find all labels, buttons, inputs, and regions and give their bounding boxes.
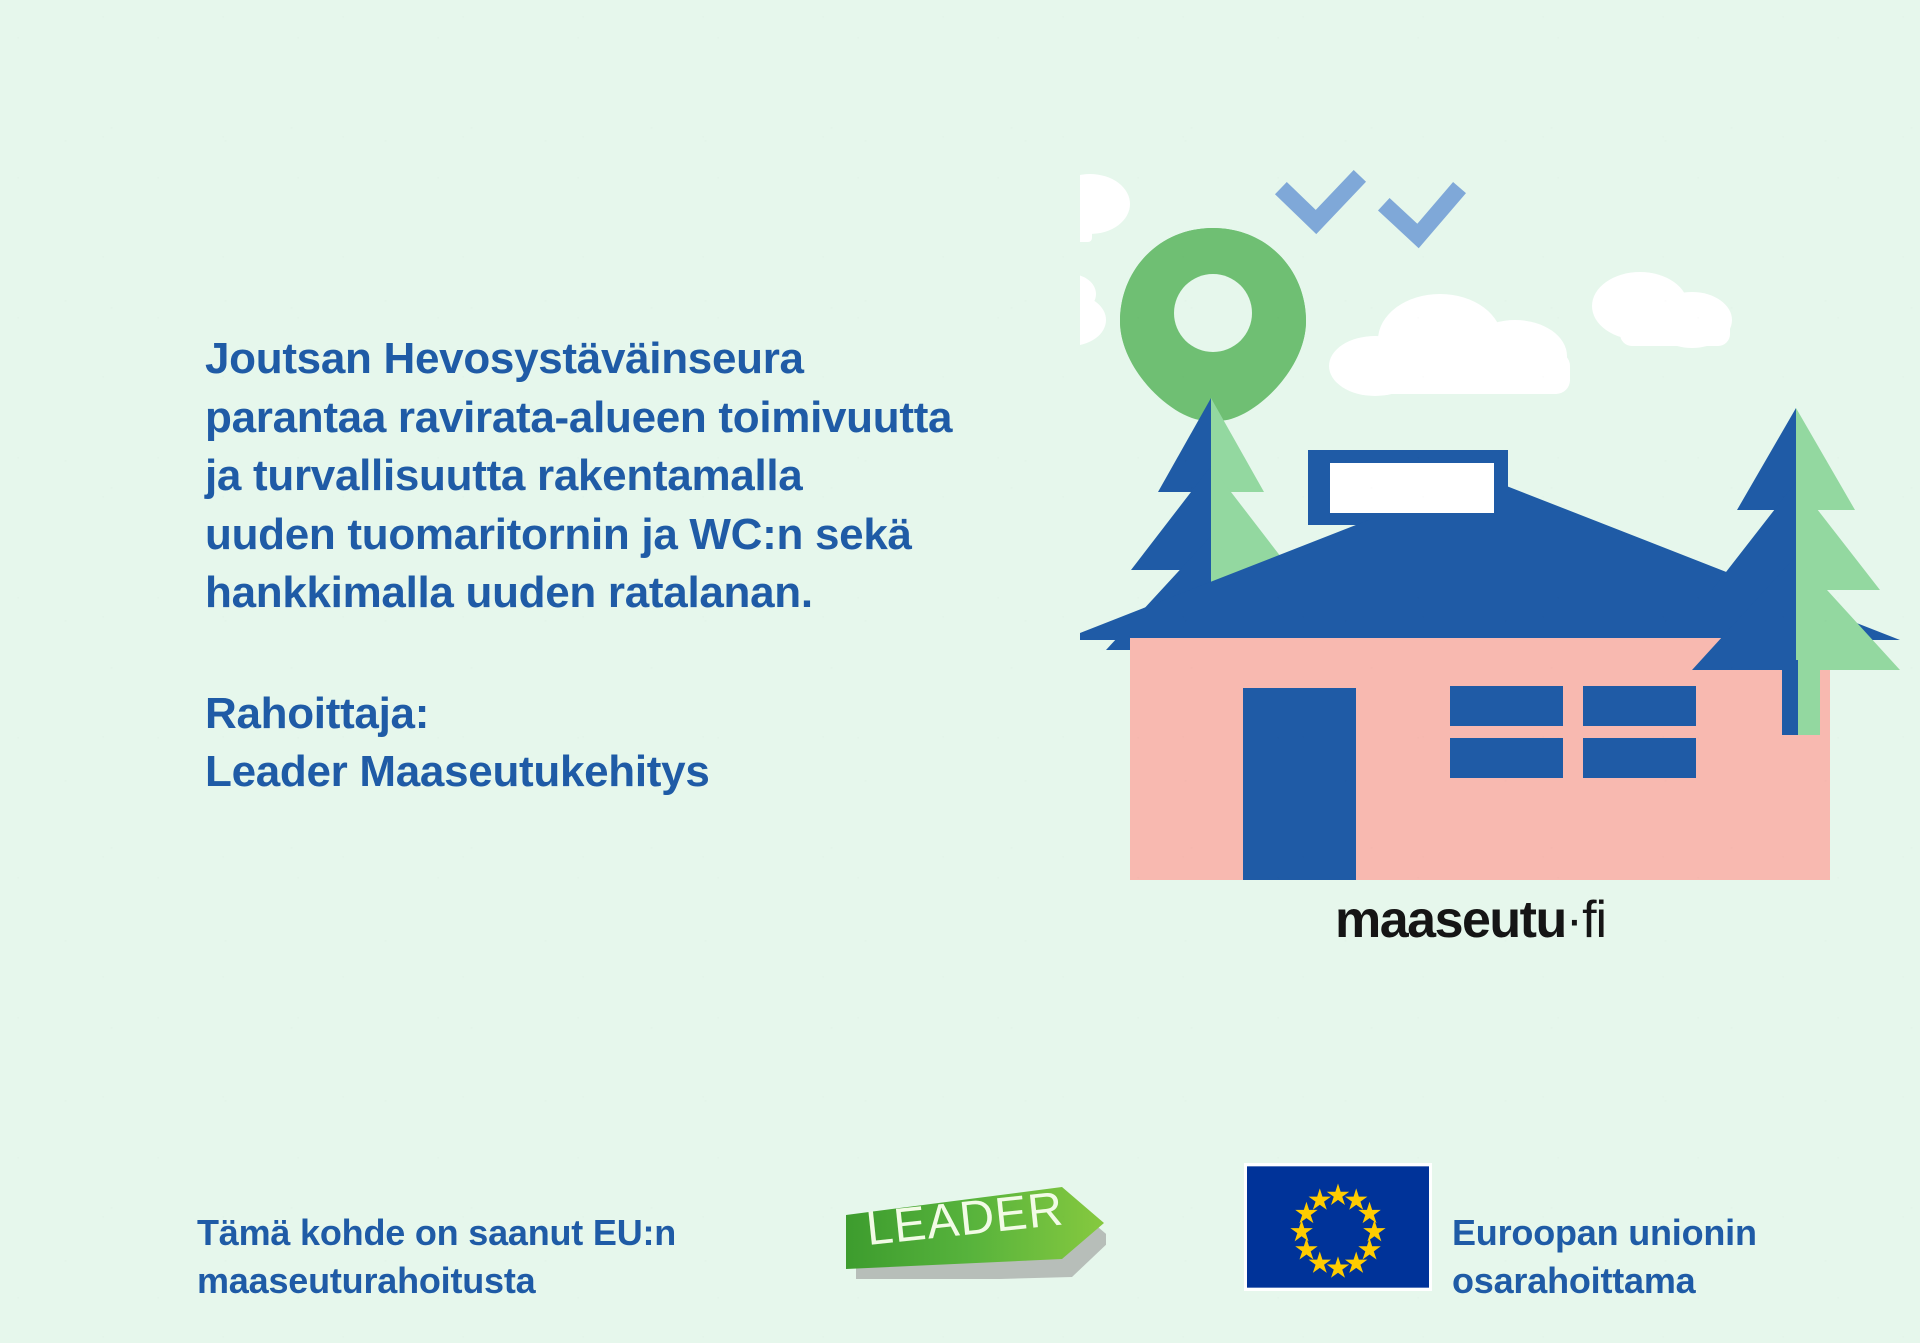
leader-logo: LEADER [838,1181,1106,1279]
cloud-icon-far-right [1592,272,1732,348]
page-title: Joutsan Hevosystäväinseura parantaa ravi… [205,330,1085,623]
maaseutu-fi-wordmark: maaseutu·fi [1335,890,1606,950]
eu-funding-statement: Tämä kohde on saanut EU:n maaseuturahoit… [197,1209,676,1305]
bird-icon-left [1287,182,1354,222]
map-pin-icon [1120,228,1306,428]
funder-text: Rahoittaja: Leader Maaseutukehitys [205,623,1085,802]
eu-flag [1244,1163,1432,1291]
footer: Tämä kohde on saanut EU:n maaseuturahoit… [0,1155,1920,1315]
wordmark-suffix: ·fi [1566,891,1606,949]
bird-icon-right [1390,194,1454,236]
wordmark-main: maaseutu [1335,891,1566,949]
maaseutu-illustration [1080,170,1900,960]
text-block: Joutsan Hevosystäväinseura parantaa ravi… [205,330,1085,802]
cloud-icon-top-left [1080,174,1130,242]
eu-cofunding-statement: Euroopan unionin osarahoittama [1452,1209,1757,1305]
cloud-icon-right [1329,294,1570,396]
poster-canvas: Joutsan Hevosystäväinseura parantaa ravi… [0,0,1920,1343]
